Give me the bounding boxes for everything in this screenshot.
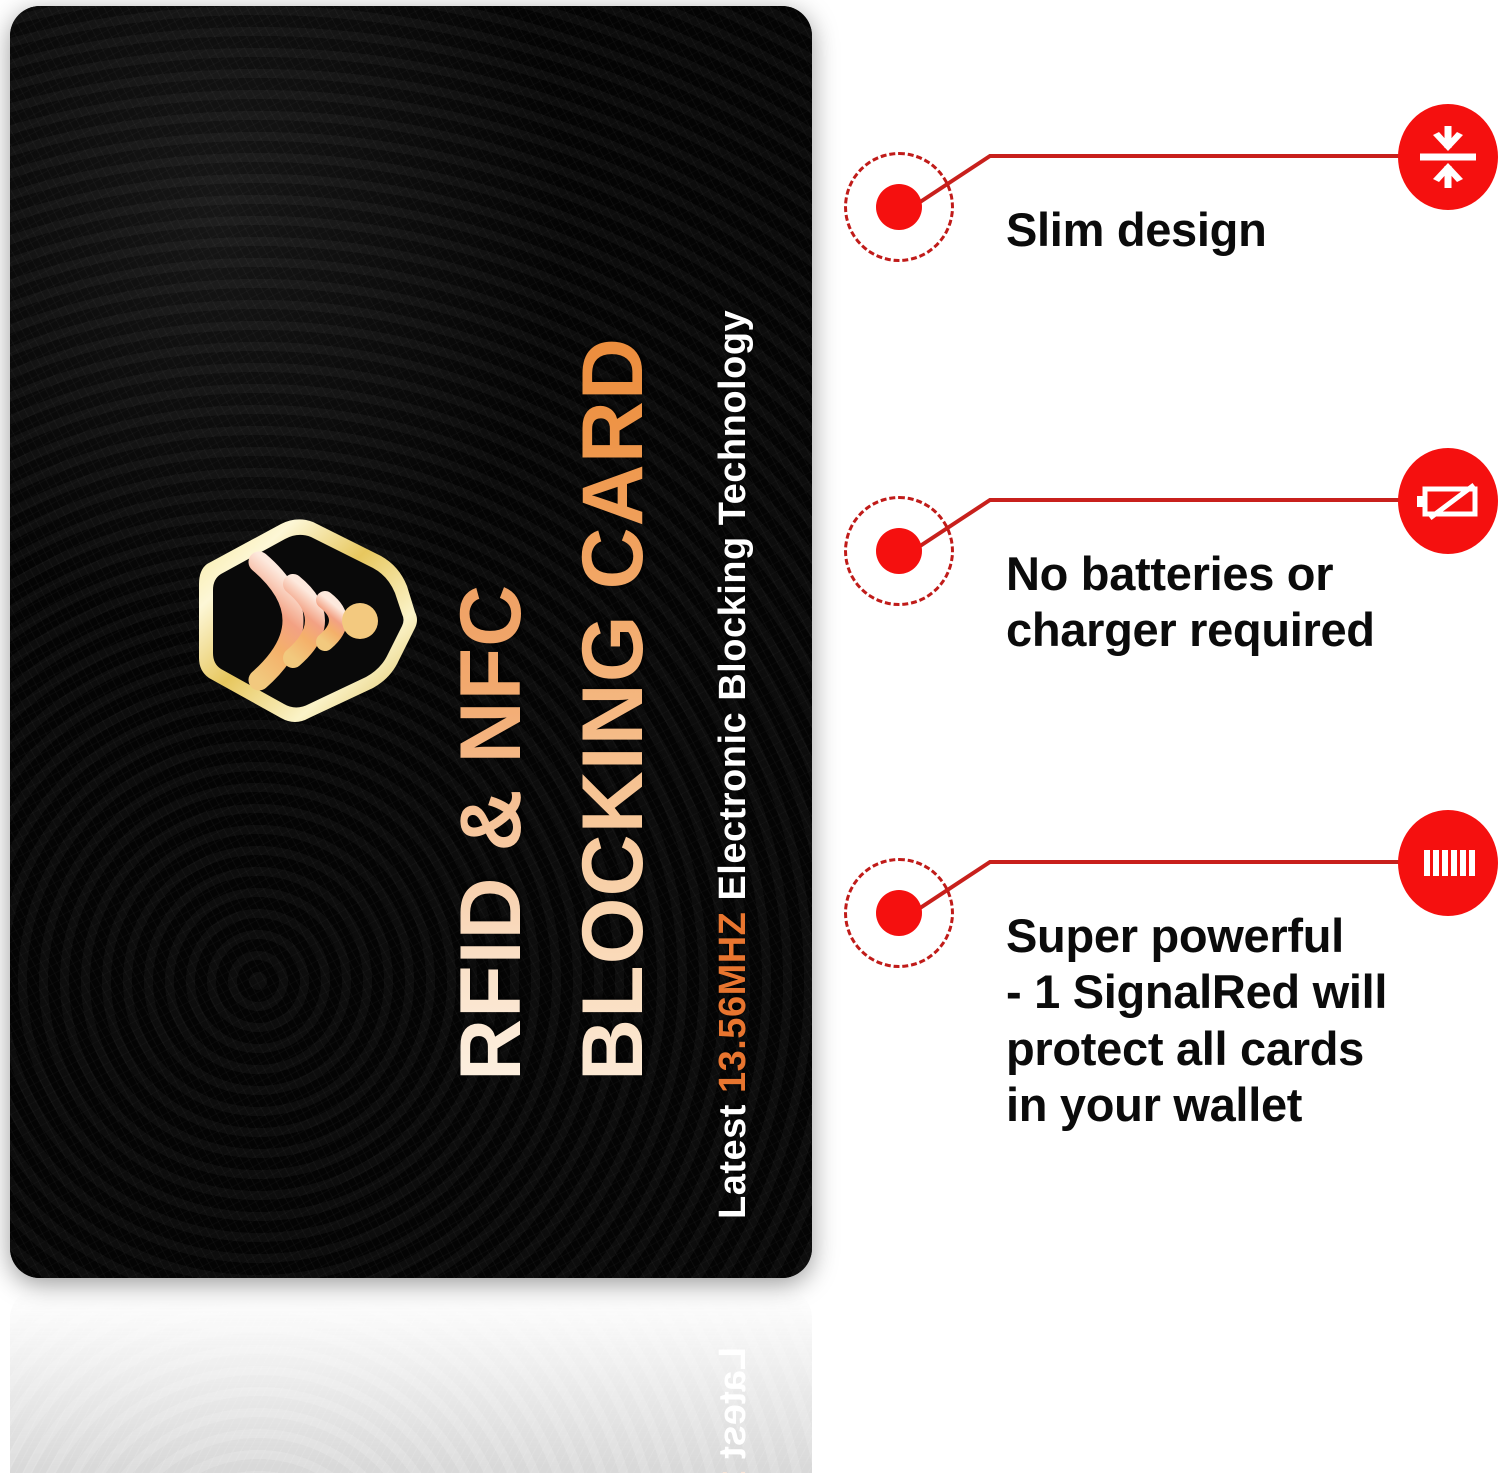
reflection-subtitle: Latest 13.56MHZ Electronic Blocking Tech…	[714, 1347, 752, 1473]
card-product-area: RFID & NFC BLOCKING CARD Latest 13.56MHZ…	[0, 0, 830, 1473]
card-subtitle: Latest 13.56MHZ Electronic Blocking Tech…	[714, 310, 752, 1219]
red-dot-marker	[844, 858, 954, 968]
card-reflection: Latest 13.56MHZ Electronic Blocking Tech…	[10, 1288, 812, 1473]
red-dot-marker	[844, 496, 954, 606]
marker-dot	[876, 528, 922, 574]
feature-text-super-powerful: Super powerful - 1 SignalRed will protec…	[1006, 908, 1387, 1134]
red-dot-marker	[844, 152, 954, 262]
compress-arrows-icon	[1398, 104, 1498, 210]
feature-text-slim-design: Slim design	[1006, 202, 1266, 258]
feature-text-no-batteries: No batteries or charger required	[1006, 546, 1375, 659]
product-feature-graphic: RFID & NFC BLOCKING CARD Latest 13.56MHZ…	[0, 0, 1500, 1473]
card-title-line2: BLOCKING CARD	[570, 337, 656, 1081]
card-subtitle-frequency: 13.56MHZ	[712, 912, 754, 1093]
feature-callout-list: Slim design No batteries or charge	[830, 0, 1500, 1473]
rfid-signal-shield-icon	[185, 508, 425, 733]
feature-callout-super-powerful: Super powerful - 1 SignalRed will protec…	[830, 790, 1500, 1250]
no-battery-icon	[1398, 448, 1498, 554]
card-subtitle-suffix: Electronic Blocking Technology	[712, 310, 754, 912]
card-title-line1: RFID & NFC	[448, 584, 534, 1081]
feature-callout-slim-design: Slim design	[830, 84, 1500, 384]
rfid-blocking-card: RFID & NFC BLOCKING CARD Latest 13.56MHZ…	[10, 6, 812, 1278]
marker-dot	[876, 184, 922, 230]
marker-dot	[876, 890, 922, 936]
card-subtitle-prefix: Latest	[712, 1093, 754, 1219]
signal-bars-icon	[1398, 810, 1498, 916]
feature-callout-no-batteries: No batteries or charger required	[830, 428, 1500, 748]
